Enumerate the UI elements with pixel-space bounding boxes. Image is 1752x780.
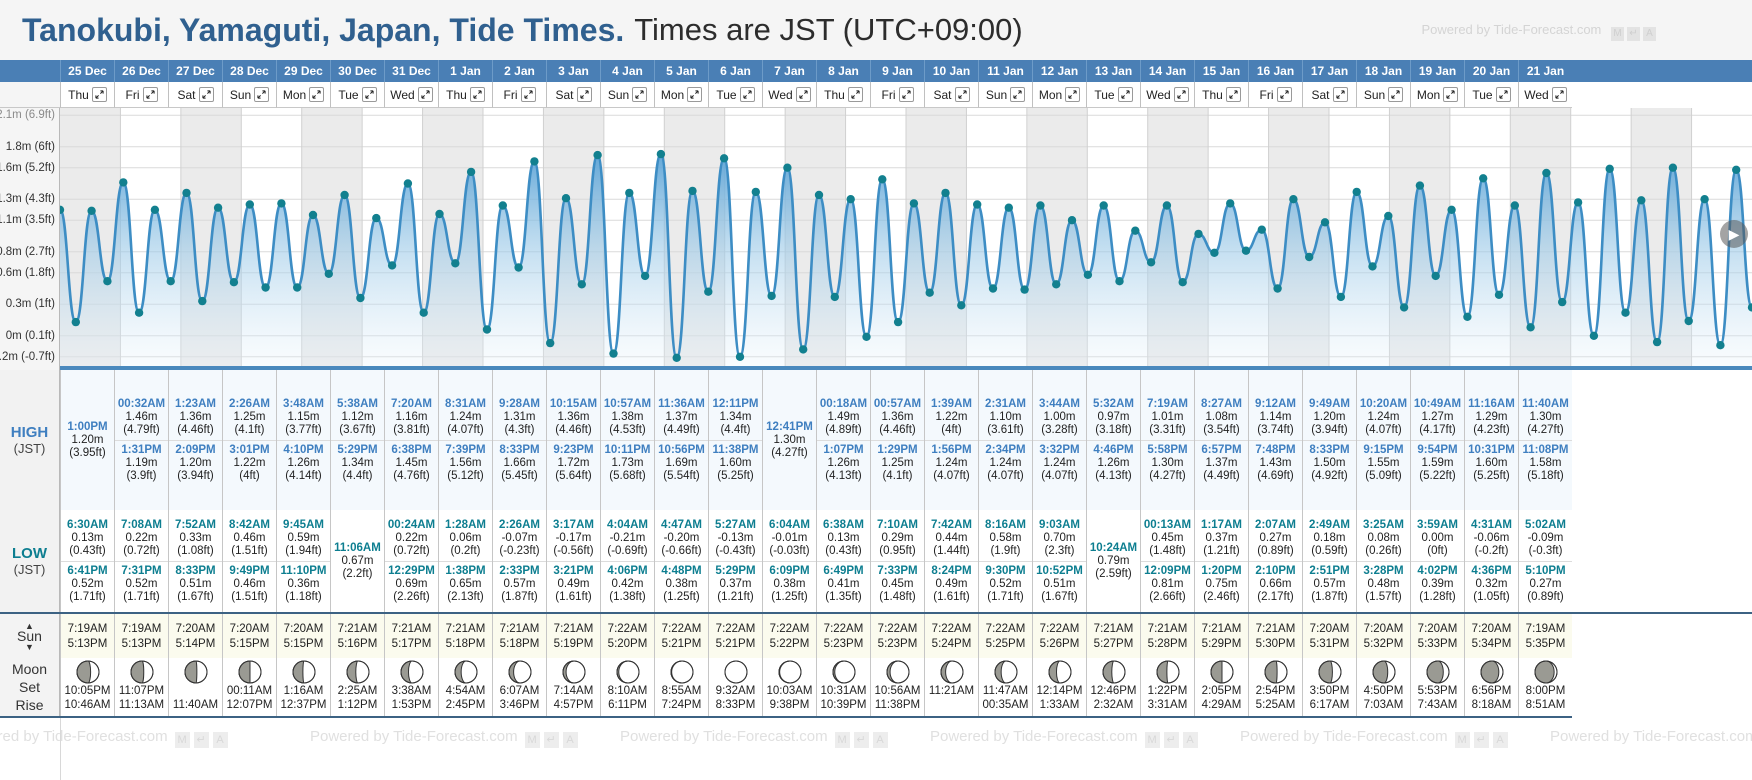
- high-tide-height-ft: (4.79ft): [115, 424, 168, 437]
- watermark-badge: ↵: [1164, 732, 1179, 748]
- moon-cell: 1:16AM12:37PM: [276, 658, 330, 716]
- high-tide-entry: 11:38PM1.60m(5.25ft): [709, 440, 762, 486]
- date-header-cell[interactable]: 27 Dec: [168, 60, 222, 82]
- low-tide-entry: 8:24PM0.49m(1.61ft): [925, 561, 978, 607]
- low-tide-entry: 6:38AM0.13m(0.43ft): [817, 516, 870, 561]
- tide-extreme-point: [1131, 227, 1139, 235]
- expand-icon[interactable]: [577, 87, 592, 102]
- moonrise-time: 3:31AM: [1148, 698, 1188, 712]
- sun-cell: 7:22AM5:21PM: [654, 614, 708, 658]
- watermark-badge: A: [563, 732, 578, 748]
- low-tide-cell: 00:24AM0.22m(0.72ft)12:29PM0.69m(2.26ft): [384, 510, 438, 612]
- high-tide-time: 10:56PM: [655, 443, 708, 457]
- moonrise-time: 2:32AM: [1094, 698, 1134, 712]
- moonset-time: 6:07AM: [500, 684, 540, 698]
- tide-extreme-point: [894, 318, 902, 326]
- tide-extreme-point: [1479, 174, 1487, 182]
- low-tide-entry: 1:17AM0.37m(1.21ft): [1195, 516, 1248, 561]
- date-header-cell[interactable]: 13 Jan: [1086, 60, 1140, 82]
- high-tide-height-m: 1.46m: [115, 411, 168, 424]
- tide-extreme-point: [372, 214, 380, 222]
- high-tide-height-ft: (3.95ft): [61, 447, 114, 460]
- moonset-time: 12:46PM: [1090, 684, 1136, 698]
- high-tide-height-m: 1.10m: [979, 411, 1032, 424]
- high-tide-height-m: 1.26m: [817, 457, 870, 470]
- moon-cell: 11:21AM: [924, 658, 978, 716]
- high-tide-height-ft: (3.94ft): [169, 470, 222, 483]
- low-tide-height-m: 0.00m: [1411, 532, 1464, 545]
- low-tide-height-ft: (1.25ft): [655, 591, 708, 604]
- date-header-cell[interactable]: 10 Jan: [924, 60, 978, 82]
- low-tide-time: 2:33PM: [493, 564, 546, 578]
- low-tide-height-ft: (1.9ft): [979, 545, 1032, 558]
- moon-phase-icon: [562, 660, 586, 684]
- moonrise-time: 7:24PM: [662, 698, 702, 712]
- expand-icon[interactable]: [632, 87, 647, 102]
- high-tide-height-ft: (4.4ft): [709, 424, 762, 437]
- expand-icon[interactable]: [362, 87, 377, 102]
- weekday-header-cell: Tue: [1086, 82, 1140, 108]
- high-tide-height-ft: (5.12ft): [439, 470, 492, 483]
- high-tide-height-m: 1.60m: [709, 457, 762, 470]
- high-tide-height-m: 1.24m: [925, 457, 978, 470]
- date-header-cell[interactable]: 29 Dec: [276, 60, 330, 82]
- low-tide-entry: 2:26AM-0.07m(-0.23ft): [493, 516, 546, 561]
- low-tide-entry: 4:48PM0.38m(1.25ft): [655, 561, 708, 607]
- low-tide-height-m: -0.01m: [763, 532, 816, 545]
- high-tide-cell: 1:23AM1.36m(4.46ft)2:09PM1.20m(3.94ft): [168, 370, 222, 510]
- tide-extreme-point: [767, 292, 775, 300]
- high-tide-cell: 1:00PM1.20m(3.95ft): [60, 370, 114, 510]
- date-header-cell[interactable]: 4 Jan: [600, 60, 654, 82]
- tide-extreme-point: [1305, 253, 1313, 261]
- weekday-label: Fri: [882, 88, 896, 102]
- moonset-time: 4:50PM: [1364, 684, 1404, 698]
- high-tide-entry: 1:00PM1.20m(3.95ft): [61, 418, 114, 463]
- high-tide-height-ft: (4.53ft): [601, 424, 654, 437]
- expand-icon[interactable]: [143, 87, 158, 102]
- tide-extreme-point: [309, 211, 317, 219]
- page-title: Tanokubi, Yamaguti, Japan, Tide Times.: [0, 12, 624, 49]
- high-tide-height-m: 1.25m: [871, 457, 924, 470]
- date-header-cell[interactable]: 11 Jan: [978, 60, 1032, 82]
- high-tide-height-m: 1.24m: [979, 457, 1032, 470]
- moonset-time: 7:14AM: [554, 684, 594, 698]
- date-header-cell[interactable]: 16 Jan: [1248, 60, 1302, 82]
- low-tide-time: 6:38AM: [817, 518, 870, 532]
- moonrise-time: 12:07PM: [226, 698, 272, 712]
- y-axis-tick: 1.1m (3.5ft): [0, 214, 55, 226]
- moon-times: 7:14AM4:57PM: [554, 684, 594, 712]
- high-tide-height-m: 1.34m: [331, 457, 384, 470]
- expand-icon[interactable]: [848, 87, 863, 102]
- footer-watermark-text: Powered by Tide-Forecast.com: [930, 728, 1138, 745]
- high-tide-cell: 2:26AM1.25m(4.1ft)3:01PM1.22m(4ft): [222, 370, 276, 510]
- moonset-time: 1:22PM: [1148, 684, 1188, 698]
- date-header-cell[interactable]: 31 Dec: [384, 60, 438, 82]
- moon-times: 1:16AM12:37PM: [280, 684, 326, 712]
- low-tide-time: 7:08AM: [115, 518, 168, 532]
- expand-icon[interactable]: [740, 87, 755, 102]
- tide-extreme-point: [1400, 303, 1408, 311]
- moonset-time: 11:07PM: [119, 684, 164, 698]
- low-tide-time: 8:33PM: [169, 564, 222, 578]
- sun-cell: 7:21AM5:16PM: [330, 614, 384, 658]
- footer-watermark: Powered by Tide-Forecast.comM↵A: [1240, 728, 1508, 748]
- low-tide-time: 10:52PM: [1033, 564, 1086, 578]
- sun-cell: 7:21AM5:18PM: [438, 614, 492, 658]
- tide-extreme-point: [1463, 313, 1471, 321]
- moonrise-time: 12:37PM: [280, 698, 326, 712]
- moonrise-time: 7:43AM: [1418, 698, 1458, 712]
- low-tide-time: 9:49PM: [223, 564, 276, 578]
- expand-icon[interactable]: [1388, 87, 1403, 102]
- expand-icon[interactable]: [1065, 87, 1080, 102]
- high-tide-cell: 9:12AM1.14m(3.74ft)7:48PM1.43m(4.69ft): [1248, 370, 1302, 510]
- weekday-header-cell: Sun: [978, 82, 1032, 108]
- expand-icon[interactable]: [955, 87, 970, 102]
- date-header-cell[interactable]: 25 Dec: [60, 60, 114, 82]
- low-tide-height-m: 0.79m: [1087, 555, 1140, 568]
- moon-times: 12:46PM2:32AM: [1090, 684, 1136, 712]
- expand-icon[interactable]: [1277, 87, 1292, 102]
- sunrise-time: 7:22AM: [932, 623, 972, 635]
- watermark-badge: M: [525, 732, 540, 748]
- low-tide-cell: 7:42AM0.44m(1.44ft)8:24PM0.49m(1.61ft): [924, 510, 978, 612]
- high-tide-time: 7:20AM: [385, 397, 438, 411]
- low-tide-entry: 6:04AM-0.01m(-0.03ft): [763, 516, 816, 561]
- low-tide-label: LOW (JST): [0, 510, 60, 612]
- low-tide-time: 11:10PM: [277, 564, 330, 578]
- tide-extreme-point: [752, 188, 760, 196]
- expand-icon[interactable]: [1552, 87, 1567, 102]
- moon-times: 10:03AM9:38PM: [766, 684, 812, 712]
- moonrise-time: 5:25AM: [1256, 698, 1296, 712]
- y-axis-tick: 1.8m (6ft): [6, 141, 55, 153]
- high-tide-height-ft: (4.92ft): [1303, 470, 1356, 483]
- high-tide-height-m: 1.60m: [1465, 457, 1518, 470]
- date-header-cell[interactable]: 6 Jan: [708, 60, 762, 82]
- low-tide-cell: 4:47AM-0.20m(-0.66ft)4:48PM0.38m(1.25ft): [654, 510, 708, 612]
- date-header-cell[interactable]: 2 Jan: [492, 60, 546, 82]
- sunset-time: 5:22PM: [770, 638, 810, 650]
- low-tide-height-ft: (1.87ft): [1303, 591, 1356, 604]
- high-tide-label-text: HIGH: [11, 424, 49, 441]
- weekday-label: Mon: [661, 88, 684, 102]
- moon-cell: 8:55AM7:24PM: [654, 658, 708, 716]
- moon-phase-icon: [670, 660, 694, 684]
- date-header-cell[interactable]: 3 Jan: [546, 60, 600, 82]
- low-tide-cell: 7:08AM0.22m(0.72ft)7:31PM0.52m(1.71ft): [114, 510, 168, 612]
- expand-icon[interactable]: [418, 87, 433, 102]
- low-tide-entry: 4:02PM0.39m(1.28ft): [1411, 561, 1464, 607]
- tide-extreme-point: [499, 201, 507, 209]
- sun-cell: 7:21AM5:17PM: [384, 614, 438, 658]
- footer-watermark-badges: M↵A: [1455, 732, 1508, 748]
- high-tide-cell: 5:32AM0.97m(3.18ft)4:46PM1.26m(4.13ft): [1086, 370, 1140, 510]
- expand-icon[interactable]: [309, 87, 324, 102]
- high-tide-entry: 10:57AM1.38m(4.53ft): [601, 395, 654, 440]
- high-tide-time: 7:48PM: [1249, 443, 1302, 457]
- low-tide-time: 8:16AM: [979, 518, 1032, 532]
- low-tide-height-m: 0.06m: [439, 532, 492, 545]
- high-tide-cell: 7:19AM1.01m(3.31ft)5:58PM1.30m(4.27ft): [1140, 370, 1194, 510]
- low-tide-time: 7:31PM: [115, 564, 168, 578]
- date-header-cell[interactable]: 1 Jan: [438, 60, 492, 82]
- low-tide-height-ft: (1.71ft): [979, 591, 1032, 604]
- low-tide-entry: 6:30AM0.13m(0.43ft): [61, 516, 114, 561]
- high-tide-height-m: 1.08m: [1195, 411, 1248, 424]
- weekday-header-cell: Mon: [654, 82, 708, 108]
- sunset-time: 5:28PM: [1148, 638, 1188, 650]
- expand-icon[interactable]: [1443, 87, 1458, 102]
- high-tide-entry: 1:23AM1.36m(4.46ft): [169, 395, 222, 440]
- low-tide-height-m: 0.46m: [223, 532, 276, 545]
- sunset-time: 5:33PM: [1418, 638, 1458, 650]
- low-tide-time: 3:17AM: [547, 518, 600, 532]
- footer-watermark-text: Powered by Tide-Forecast.com: [1550, 728, 1752, 745]
- sun-cell: 7:21AM5:28PM: [1140, 614, 1194, 658]
- high-tide-entry: 8:33PM1.50m(4.92ft): [1303, 440, 1356, 486]
- high-tide-entry: 6:57PM1.37m(4.49ft): [1195, 440, 1248, 486]
- tide-extreme-point: [1005, 204, 1013, 212]
- low-tide-height-ft: (1.94ft): [277, 545, 330, 558]
- low-tide-time: 9:45AM: [277, 518, 330, 532]
- date-header-cell[interactable]: 19 Jan: [1410, 60, 1464, 82]
- low-tide-time: 6:09PM: [763, 564, 816, 578]
- low-tide-height-ft: (1.71ft): [115, 591, 168, 604]
- low-tide-height-m: 0.38m: [655, 578, 708, 591]
- expand-icon[interactable]: [1496, 87, 1511, 102]
- date-header-cell[interactable]: 15 Jan: [1194, 60, 1248, 82]
- tide-extreme-point: [799, 345, 807, 353]
- low-tide-height-m: 0.75m: [1195, 578, 1248, 591]
- low-tide-height-ft: (2.13ft): [439, 591, 492, 604]
- high-tide-height-ft: (5.09ft): [1357, 470, 1410, 483]
- tide-extreme-point: [293, 283, 301, 291]
- y-axis-tick: 0.3m (1ft): [6, 298, 55, 310]
- low-tide-cell: 9:45AM0.59m(1.94ft)11:10PM0.36m(1.18ft): [276, 510, 330, 612]
- expand-icon[interactable]: [470, 87, 485, 102]
- expand-icon[interactable]: [687, 87, 702, 102]
- date-header-cell[interactable]: 9 Jan: [870, 60, 924, 82]
- low-tide-height-ft: (0.43ft): [817, 545, 870, 558]
- low-tide-time: 9:30PM: [979, 564, 1032, 578]
- low-tide-height-m: -0.20m: [655, 532, 708, 545]
- low-tide-entry: 8:42AM0.46m(1.51ft): [223, 516, 276, 561]
- tide-extreme-point: [783, 164, 791, 172]
- tide-extreme-point: [135, 309, 143, 317]
- high-tide-height-ft: (4.46ft): [871, 424, 924, 437]
- weekday-header-cell: Sun: [1356, 82, 1410, 108]
- tide-extreme-point: [957, 301, 965, 309]
- high-tide-entry: 10:20AM1.24m(4.07ft): [1357, 395, 1410, 440]
- tide-plot-area[interactable]: ▶: [60, 108, 1752, 370]
- low-tide-height-ft: (2.46ft): [1195, 591, 1248, 604]
- low-tide-height-m: 0.57m: [1303, 578, 1356, 591]
- low-tide-height-ft: (0.72ft): [115, 545, 168, 558]
- low-tide-time: 4:06PM: [601, 564, 654, 578]
- date-header-cell[interactable]: 14 Jan: [1140, 60, 1194, 82]
- date-header-cell[interactable]: 30 Dec: [330, 60, 384, 82]
- expand-icon[interactable]: [1226, 87, 1241, 102]
- high-tide-time: 10:57AM: [601, 397, 654, 411]
- weekday-label: Fri: [126, 88, 140, 102]
- moonset-time: 10:05PM: [64, 684, 110, 698]
- expand-icon[interactable]: [1010, 87, 1025, 102]
- low-tide-height-ft: (1.08ft): [169, 545, 222, 558]
- sunset-time: 5:14PM: [176, 638, 216, 650]
- tide-extreme-point: [1115, 277, 1123, 285]
- expand-icon[interactable]: [899, 87, 914, 102]
- weekday-label: Fri: [504, 88, 518, 102]
- moon-phase-icon: [1156, 660, 1180, 684]
- moon-times: 12:14PM1:33AM: [1036, 684, 1082, 712]
- low-tide-height-m: 0.49m: [547, 578, 600, 591]
- footer-watermark-text: Powered by Tide-Forecast.com: [620, 728, 828, 745]
- moon-times: 3:38AM1:53PM: [392, 684, 432, 712]
- high-tide-entry: 3:48AM1.15m(3.77ft): [277, 395, 330, 440]
- low-tide-entry: 3:21PM0.49m(1.61ft): [547, 561, 600, 607]
- moon-times: 11:21AM: [929, 684, 974, 712]
- high-tide-height-m: 1.19m: [115, 457, 168, 470]
- high-tide-time: 7:39PM: [439, 443, 492, 457]
- moonrise-time: 1:53PM: [392, 698, 432, 712]
- date-header-cell[interactable]: 12 Jan: [1032, 60, 1086, 82]
- expand-icon[interactable]: [199, 87, 214, 102]
- expand-icon[interactable]: [521, 87, 536, 102]
- sun-cell: 7:22AM5:26PM: [1032, 614, 1086, 658]
- expand-icon[interactable]: [1118, 87, 1133, 102]
- date-header-cell[interactable]: 5 Jan: [654, 60, 708, 82]
- high-tide-height-ft: (3.61ft): [979, 424, 1032, 437]
- moonset-time: 2:54PM: [1256, 684, 1296, 698]
- high-tide-time: 8:31AM: [439, 397, 492, 411]
- sunset-time: 5:15PM: [230, 638, 270, 650]
- footer-watermark-badges: M↵A: [175, 732, 228, 748]
- date-header-cell[interactable]: 17 Jan: [1302, 60, 1356, 82]
- moonrise-time: 6:17AM: [1310, 698, 1350, 712]
- expand-icon[interactable]: [254, 87, 269, 102]
- high-tide-time: 00:57AM: [871, 397, 924, 411]
- low-tide-cell: 9:03AM0.70m(2.3ft)10:52PM0.51m(1.67ft): [1032, 510, 1086, 612]
- low-tide-height-m: -0.17m: [547, 532, 600, 545]
- expand-icon[interactable]: [1333, 87, 1348, 102]
- low-tide-height-ft: (1.67ft): [1033, 591, 1086, 604]
- low-tide-entry: 2:51PM0.57m(1.87ft): [1303, 561, 1356, 607]
- high-tide-entry: 7:39PM1.56m(5.12ft): [439, 440, 492, 486]
- high-tide-height-m: 1.59m: [1411, 457, 1464, 470]
- date-header-cell[interactable]: 8 Jan: [816, 60, 870, 82]
- low-tide-entry: 3:17AM-0.17m(-0.56ft): [547, 516, 600, 561]
- sunrise-time: 7:19AM: [68, 623, 108, 635]
- play-icon[interactable]: ▶: [1720, 220, 1748, 248]
- tide-extreme-point: [831, 293, 839, 301]
- tide-extreme-point: [1432, 272, 1440, 280]
- sun-cell: 7:19AM5:13PM: [60, 614, 114, 658]
- sunset-time: 5:25PM: [986, 638, 1026, 650]
- watermark-badge: A: [1643, 27, 1656, 41]
- high-tide-entry: 5:58PM1.30m(4.27ft): [1141, 440, 1194, 486]
- low-tide-entry: 9:03AM0.70m(2.3ft): [1033, 516, 1086, 561]
- sunrise-time: 7:22AM: [824, 623, 864, 635]
- high-tide-entry: 2:26AM1.25m(4.1ft): [223, 395, 276, 440]
- high-tide-height-ft: (3.81ft): [385, 424, 438, 437]
- expand-icon[interactable]: [796, 87, 811, 102]
- low-tide-time: 5:10PM: [1519, 564, 1572, 578]
- sunrise-time: 7:22AM: [770, 623, 810, 635]
- moonrise-time: 1:12PM: [338, 698, 378, 712]
- moonrise-label: Rise: [15, 697, 43, 713]
- date-header-cell[interactable]: 18 Jan: [1356, 60, 1410, 82]
- tide-extreme-point: [435, 210, 443, 218]
- low-tide-entry: 9:30PM0.52m(1.71ft): [979, 561, 1032, 607]
- sun-cell: 7:20AM5:33PM: [1410, 614, 1464, 658]
- low-tide-height-ft: (-0.56ft): [547, 545, 600, 558]
- sunrise-time: 7:22AM: [986, 623, 1026, 635]
- low-tide-height-ft: (0.72ft): [385, 545, 438, 558]
- low-tide-label-text: LOW: [12, 545, 47, 562]
- high-tide-height-m: 1.58m: [1519, 457, 1572, 470]
- sunset-time: 5:29PM: [1202, 638, 1242, 650]
- low-tide-cell: 11:06AM0.67m(2.2ft): [330, 510, 384, 612]
- low-tide-height-ft: (1.48ft): [871, 591, 924, 604]
- sunset-time: 5:18PM: [446, 638, 486, 650]
- sun-label: ▲ Sun ▼: [0, 614, 60, 658]
- high-tide-time: 9:23PM: [547, 443, 600, 457]
- low-tide-height-ft: (0.95ft): [871, 545, 924, 558]
- footer-watermark-badges: M↵A: [835, 732, 888, 748]
- low-tide-time: 10:24AM: [1087, 541, 1140, 555]
- expand-icon[interactable]: [1174, 87, 1189, 102]
- moon-phase-icon: [778, 660, 802, 684]
- moonrise-time: 4:29AM: [1202, 698, 1242, 712]
- sun-cell: 7:20AM5:15PM: [276, 614, 330, 658]
- high-tide-height-ft: (3.9ft): [115, 470, 168, 483]
- date-header-cell[interactable]: 20 Jan: [1464, 60, 1518, 82]
- high-tide-height-ft: (4.13ft): [817, 470, 870, 483]
- tide-extreme-point: [1100, 201, 1108, 209]
- high-tide-time: 9:28AM: [493, 397, 546, 411]
- high-tide-time: 1:07PM: [817, 443, 870, 457]
- tide-extreme-point: [1653, 338, 1661, 346]
- high-tide-time: 1:31PM: [115, 443, 168, 457]
- date-header-cell[interactable]: 26 Dec: [114, 60, 168, 82]
- moon-times: 9:32AM8:33PM: [716, 684, 756, 712]
- moon-section: Moon Set Rise 10:05PM10:46AM11:07PM11:13…: [0, 658, 1572, 718]
- sun-cell: 7:21AM5:19PM: [546, 614, 600, 658]
- low-tide-entry: 10:24AM0.79m(2.59ft): [1087, 539, 1140, 584]
- sunset-time: 5:13PM: [68, 638, 108, 650]
- date-header-cell[interactable]: 28 Dec: [222, 60, 276, 82]
- high-tide-entry: 12:11PM1.34m(4.4ft): [709, 395, 762, 440]
- sunset-time: 5:21PM: [716, 638, 756, 650]
- weekday-header-cell: Mon: [1410, 82, 1464, 108]
- high-tide-time: 3:32PM: [1033, 443, 1086, 457]
- expand-icon[interactable]: [92, 87, 107, 102]
- high-tide-entry: 00:57AM1.36m(4.46ft): [871, 395, 924, 440]
- date-header-cell[interactable]: 21 Jan: [1518, 60, 1572, 82]
- low-tide-height-m: 0.42m: [601, 578, 654, 591]
- low-tide-height-m: 0.45m: [1141, 532, 1194, 545]
- tide-extreme-point: [340, 191, 348, 199]
- low-tide-height-ft: (1.28ft): [1411, 591, 1464, 604]
- low-tide-time: 12:09PM: [1141, 564, 1194, 578]
- date-header-cell[interactable]: 7 Jan: [762, 60, 816, 82]
- moon-cell: 1:22PM3:31AM: [1140, 658, 1194, 716]
- watermark-badge: ↵: [194, 732, 209, 748]
- low-tide-height-ft: (-0.2ft): [1465, 545, 1518, 558]
